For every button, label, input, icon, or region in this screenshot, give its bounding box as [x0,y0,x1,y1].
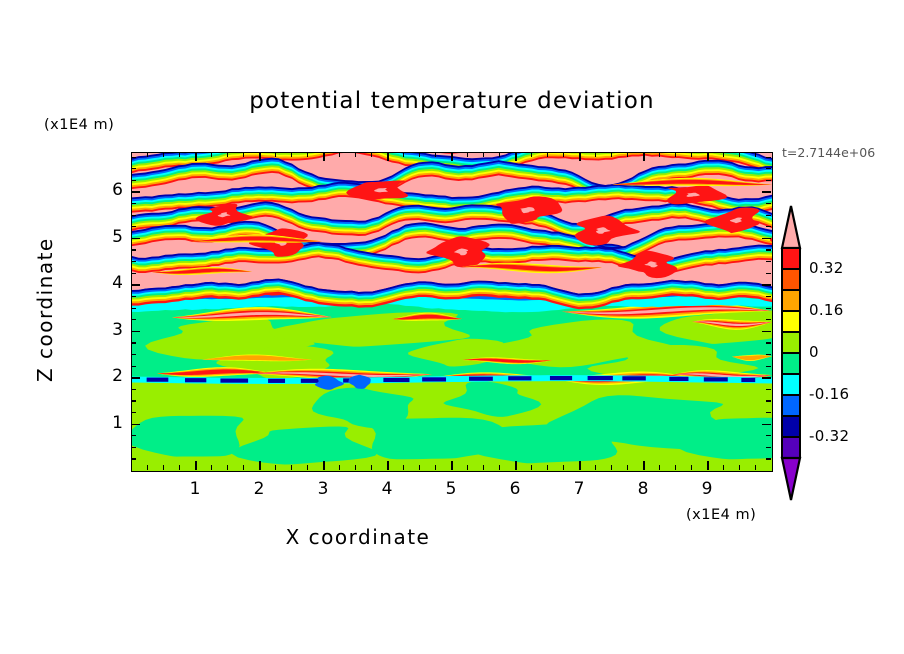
field-cold-dash [704,377,728,381]
z-minor-tick [131,249,136,250]
z-major-tick [131,284,140,286]
x-minor-tick [243,465,244,470]
field-cold-dash [220,378,248,382]
z-major-tick [131,377,140,379]
z-minor-tick-right [766,168,771,169]
x-tick-label: 1 [175,479,215,499]
x-major-tick [451,461,453,470]
z-minor-tick [131,168,136,169]
x-minor-tick [755,465,756,470]
x-major-tick-top [643,152,645,161]
x-minor-tick [531,465,532,470]
x-minor-tick [211,465,212,470]
x-minor-tick-top [659,152,660,157]
z-minor-tick [131,447,136,448]
x-minor-tick [595,465,596,470]
x-major-tick-top [387,152,389,161]
field-cold-dash [301,379,319,383]
x-minor-tick-top [179,152,180,157]
colorbar-band [782,248,800,269]
z-minor-tick-right [766,435,771,436]
x-minor-tick [339,465,340,470]
field-cold-dash [588,376,613,380]
colorbar-band [782,269,800,290]
x-tick-label: 2 [239,479,279,499]
z-minor-tick-right [766,157,771,158]
colorbar-band [782,416,800,437]
z-minor-tick-right [766,389,771,390]
z-tick-label: 3 [93,320,123,340]
x-minor-tick-top [627,152,628,157]
x-minor-tick [227,465,228,470]
x-tick-label: 3 [303,479,343,499]
z-minor-tick-right [766,458,771,459]
z-major-tick-right [762,377,771,379]
x-major-tick-top [579,152,581,161]
x-minor-tick [147,465,148,470]
x-major-tick-top [323,152,325,161]
z-minor-tick-right [766,366,771,367]
field-cold-dash [147,378,169,382]
z-minor-tick [131,203,136,204]
colorbar-tick-label: -0.32 [809,427,849,445]
z-minor-tick-right [766,249,771,250]
z-minor-tick-right [766,261,771,262]
z-minor-tick-right [766,447,771,448]
x-tick-label: 8 [623,479,663,499]
x-minor-tick-top [675,152,676,157]
colorbar-band [782,374,800,395]
x-minor-tick-top [691,152,692,157]
field-cold-dash [741,378,755,382]
x-minor-tick-top [531,152,532,157]
x-minor-tick [723,465,724,470]
x-major-tick [579,461,581,470]
x-minor-tick [163,465,164,470]
z-minor-tick [131,180,136,181]
z-minor-tick-right [766,180,771,181]
x-minor-tick-top [403,152,404,157]
z-minor-tick [131,400,136,401]
z-minor-tick-right [766,354,771,355]
z-tick-label: 2 [93,366,123,386]
x-minor-tick-top [355,152,356,157]
x-minor-tick-top [739,152,740,157]
x-minor-tick-top [563,152,564,157]
x-major-tick-top [707,152,709,161]
x-major-tick [323,461,325,470]
x-minor-tick [419,465,420,470]
x-minor-tick [627,465,628,470]
field-cold-dash [383,378,409,382]
x-minor-tick [403,465,404,470]
z-minor-tick-right [766,215,771,216]
x-tick-label: 5 [431,479,471,499]
z-minor-tick [131,366,136,367]
colorbar-band [782,395,800,416]
x-tick-label: 6 [495,479,535,499]
z-minor-tick-right [766,342,771,343]
x-minor-tick [467,465,468,470]
x-major-tick-top [195,152,197,161]
z-minor-tick [131,354,136,355]
field-cold-dash [185,378,206,382]
colorbar-under-arrow [782,458,800,500]
chart-title: potential temperature deviation [0,88,904,114]
x-major-tick-top [259,152,261,161]
z-major-tick-right [762,284,771,286]
z-minor-tick-right [766,400,771,401]
x-major-tick [259,461,261,470]
z-major-tick-right [762,238,771,240]
field-cold-dash [508,376,531,380]
x-minor-tick [547,465,548,470]
x-minor-tick-top [147,152,148,157]
colorbar-over-arrow [782,206,800,248]
x-minor-tick [483,465,484,470]
x-minor-tick [675,465,676,470]
colorbar-band [782,353,800,374]
z-minor-tick [131,319,136,320]
field-cold-dash [622,376,645,380]
x-minor-tick [611,465,612,470]
z-minor-tick [131,296,136,297]
x-major-tick [707,461,709,470]
x-major-tick-top [451,152,453,161]
field-cold-dash [469,377,493,381]
z-minor-tick-right [766,226,771,227]
x-minor-tick-top [243,152,244,157]
x-tick-label: 9 [687,479,727,499]
z-tick-label: 1 [93,413,123,433]
x-minor-tick-top [371,152,372,157]
colorbar [778,202,812,528]
x-minor-tick-top [275,152,276,157]
field-cold-dash [669,377,688,381]
z-minor-tick-right [766,203,771,204]
x-minor-tick-top [755,152,756,157]
x-minor-tick-top [547,152,548,157]
z-minor-tick [131,435,136,436]
x-major-tick [387,461,389,470]
z-minor-tick-right [766,412,771,413]
colorbar-tick-label: -0.16 [809,385,849,403]
z-tick-label: 5 [93,227,123,247]
z-minor-tick [131,389,136,390]
z-minor-tick [131,458,136,459]
x-minor-tick-top [339,152,340,157]
x-minor-tick-top [419,152,420,157]
z-minor-tick [131,273,136,274]
x-minor-tick-top [163,152,164,157]
x-minor-tick-top [723,152,724,157]
x-minor-tick [691,465,692,470]
field-cold-dash [422,377,446,381]
z-tick-label: 4 [93,273,123,293]
z-tick-label: 6 [93,180,123,200]
x-minor-tick [659,465,660,470]
x-minor-tick-top [307,152,308,157]
z-major-tick-right [762,424,771,426]
z-minor-tick-right [766,308,771,309]
x-minor-tick-top [483,152,484,157]
x-minor-tick-top [227,152,228,157]
x-minor-tick [563,465,564,470]
x-minor-tick-top [595,152,596,157]
x-minor-tick-top [499,152,500,157]
x-minor-tick [371,465,372,470]
colorbar-band [782,290,800,311]
contour-plot-area [131,152,773,472]
x-major-tick-top [515,152,517,161]
colorbar-swatches [778,202,812,524]
x-minor-tick [435,465,436,470]
z-minor-tick [131,215,136,216]
field-cold-dash [550,376,572,380]
z-minor-tick [131,157,136,158]
colorbar-tick-label: 0.32 [809,259,844,277]
x-minor-tick [307,465,308,470]
x-minor-tick [291,465,292,470]
field-blob [132,416,244,457]
x-minor-tick [275,465,276,470]
x-minor-tick-top [291,152,292,157]
z-major-tick [131,424,140,426]
z-minor-tick-right [766,296,771,297]
x-minor-tick [499,465,500,470]
z-axis-title: Z coordinate [33,242,57,382]
z-major-tick-right [762,191,771,193]
z-major-tick [131,238,140,240]
x-major-tick [643,461,645,470]
z-axis-unit-label: (x1E4 m) [44,117,114,133]
z-major-tick-right [762,331,771,333]
x-minor-tick [739,465,740,470]
x-axis-unit-label: (x1E4 m) [686,507,756,523]
z-major-tick [131,191,140,193]
x-minor-tick-top [611,152,612,157]
z-major-tick [131,331,140,333]
z-minor-tick [131,412,136,413]
x-axis-title: X coordinate [0,525,716,549]
z-minor-tick [131,308,136,309]
z-minor-tick [131,226,136,227]
z-minor-tick-right [766,319,771,320]
contour-field [132,153,772,471]
x-major-tick [195,461,197,470]
colorbar-band [782,311,800,332]
x-tick-label: 4 [367,479,407,499]
x-major-tick [515,461,517,470]
x-minor-tick-top [211,152,212,157]
x-minor-tick-top [467,152,468,157]
x-tick-label: 7 [559,479,599,499]
z-minor-tick [131,342,136,343]
colorbar-band [782,332,800,353]
x-minor-tick [355,465,356,470]
z-minor-tick-right [766,273,771,274]
timestamp-label: t=2.7144e+06 [782,145,875,160]
colorbar-tick-label: 0.16 [809,301,844,319]
z-minor-tick [131,261,136,262]
colorbar-tick-label: 0 [809,343,819,361]
colorbar-band [782,437,800,458]
x-minor-tick [179,465,180,470]
x-minor-tick-top [435,152,436,157]
field-cold-dash [268,379,285,383]
